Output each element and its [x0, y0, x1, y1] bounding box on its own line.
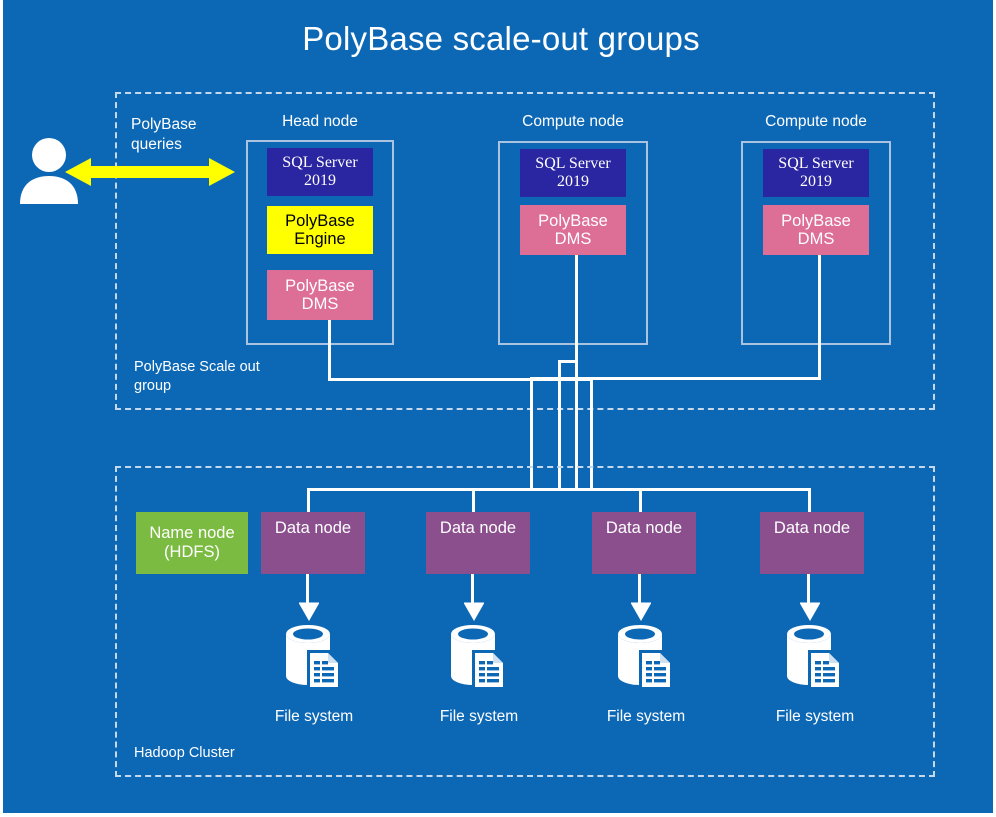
scaleout-group-caption: PolyBase Scale outgroup — [134, 358, 314, 396]
arrow-data-node-1-to-fs — [299, 574, 319, 622]
connector-compute-2-bus — [530, 377, 821, 380]
component-polybase-engine-head: PolyBaseEngine — [267, 206, 373, 254]
database-file-icon-4 — [784, 624, 846, 699]
file-system-label-3: File system — [581, 708, 711, 726]
branch-to-data-node-4 — [808, 488, 811, 513]
file-system-label-1: File system — [249, 708, 379, 726]
polybase-queries-label: PolyBasequeries — [131, 115, 196, 155]
component-polybase-dms-compute-2: PolyBaseDMS — [763, 205, 869, 255]
branch-to-data-node-1 — [307, 488, 310, 513]
database-file-icon-1 — [283, 624, 345, 699]
component-polybase-dms-compute-1: PolyBaseDMS — [520, 205, 626, 255]
component-sql-server-compute-2: SQL Server2019 — [763, 149, 869, 197]
arrow-data-node-3-to-fs — [631, 574, 651, 622]
component-polybase-dms-head: PolyBaseDMS — [267, 270, 373, 320]
data-node-4: Data node — [760, 512, 864, 574]
connector-compute-1-drop — [575, 255, 578, 363]
distribution-bus — [307, 488, 811, 491]
arrow-data-node-2-to-fs — [464, 574, 484, 622]
arrow-data-node-4-to-fs — [800, 574, 820, 622]
double-arrow-icon — [65, 155, 235, 194]
database-file-icon-3 — [615, 624, 677, 699]
connector-compute-2-drop — [818, 255, 821, 380]
name-node-hdfs: Name node(HDFS) — [136, 512, 248, 574]
branch-to-data-node-3 — [639, 488, 642, 513]
file-system-label-2: File system — [414, 708, 544, 726]
node-title-compute-2: Compute node — [741, 112, 891, 132]
connector-head-drop — [328, 320, 331, 380]
branch-to-data-node-2 — [472, 488, 475, 513]
data-node-2: Data node — [426, 512, 530, 574]
data-node-1: Data node — [261, 512, 365, 574]
file-system-label-4: File system — [750, 708, 880, 726]
hadoop-group-caption: Hadoop Cluster — [134, 744, 354, 763]
data-node-3: Data node — [592, 512, 696, 574]
node-title-head: Head node — [246, 112, 394, 132]
component-sql-server-compute-1: SQL Server2019 — [520, 149, 626, 197]
diagram-canvas: PolyBase scale-out groups PolyBase Scale… — [0, 0, 996, 817]
database-file-icon-2 — [448, 624, 510, 699]
component-sql-server-head: SQL Server2019 — [267, 148, 373, 196]
node-title-compute-1: Compute node — [498, 112, 648, 132]
page-title: PolyBase scale-out groups — [3, 18, 996, 60]
